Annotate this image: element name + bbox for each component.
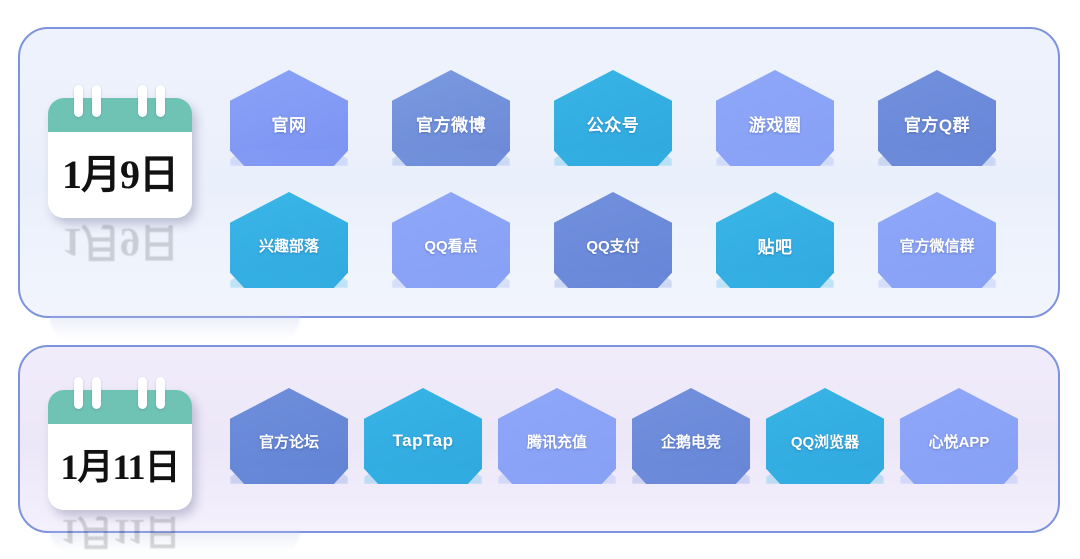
badge-label: 公众号: [583, 111, 644, 136]
badge-gongzhonghao[interactable]: 公众号: [554, 70, 672, 166]
calendar-icon: 1月9日: [48, 98, 192, 218]
calendar-icon: 1月11日: [48, 390, 192, 510]
badge-guanwang[interactable]: 官网: [230, 70, 348, 166]
calendar-ring-icon: [74, 377, 83, 409]
infographic-stage: 1月9日 1月9日 官网 官方微博 公众号 游戏圈: [0, 0, 1080, 559]
panel-jan-9-reflection: [50, 316, 300, 342]
badge-label: 兴趣部落: [255, 235, 323, 256]
badge-label: 官方Q群: [900, 111, 974, 136]
calendar-header-band: [48, 98, 192, 132]
badge-taptap[interactable]: TapTap: [364, 388, 482, 484]
calendar-date-text: 1月11日: [60, 449, 179, 485]
badge-label: QQ浏览器: [787, 431, 863, 452]
calendar-ring-icon: [74, 85, 83, 117]
badge-guanfangqqun[interactable]: 官方Q群: [878, 70, 996, 166]
badge-label: 贴吧: [754, 233, 797, 258]
badge-xinyueapp[interactable]: 心悦APP: [900, 388, 1018, 484]
calendar-ring-icon: [156, 85, 165, 117]
badge-tengxunchongzhi[interactable]: 腾讯充值: [498, 388, 616, 484]
badge-label: 心悦APP: [925, 431, 994, 452]
badge-qiedianjing[interactable]: 企鹅电竞: [632, 388, 750, 484]
calendar-body: 1月9日: [48, 132, 192, 218]
badge-guanfangluntan[interactable]: 官方论坛: [230, 388, 348, 484]
calendar-ring-icon: [138, 377, 147, 409]
badge-label: QQ支付: [582, 235, 643, 256]
badge-label: 游戏圈: [745, 111, 806, 136]
calendar-ring-icon: [92, 377, 101, 409]
badge-guanfangweibo[interactable]: 官方微博: [392, 70, 510, 166]
badge-label: 企鹅电竞: [657, 431, 725, 452]
calendar-header-band: [48, 390, 192, 424]
calendar-jan-11: 1月11日 1月11日: [48, 390, 192, 510]
badge-guanfangweixinqun[interactable]: 官方微信群: [878, 192, 996, 288]
calendar-ring-icon: [156, 377, 165, 409]
badge-tieba[interactable]: 贴吧: [716, 192, 834, 288]
badge-qqliulanqi[interactable]: QQ浏览器: [766, 388, 884, 484]
badge-xingqubuluo[interactable]: 兴趣部落: [230, 192, 348, 288]
badge-label: 官方论坛: [255, 431, 323, 452]
badge-label: 腾讯充值: [523, 431, 591, 452]
calendar-date-text: 1月9日: [62, 155, 178, 195]
badge-youxiquan[interactable]: 游戏圈: [716, 70, 834, 166]
badge-qqzhifu[interactable]: QQ支付: [554, 192, 672, 288]
calendar-body: 1月11日: [48, 424, 192, 510]
calendar-ring-icon: [138, 85, 147, 117]
badge-label: QQ看点: [420, 235, 481, 256]
badge-qqkandian[interactable]: QQ看点: [392, 192, 510, 288]
panel-jan-11-reflection: [50, 531, 300, 555]
badge-label: TapTap: [389, 431, 458, 451]
badge-label: 官方微信群: [895, 235, 978, 256]
badge-label: 官方微博: [412, 111, 490, 136]
calendar-ring-icon: [92, 85, 101, 117]
badge-label: 官网: [268, 111, 311, 136]
calendar-jan-9: 1月9日 1月9日: [48, 98, 192, 218]
